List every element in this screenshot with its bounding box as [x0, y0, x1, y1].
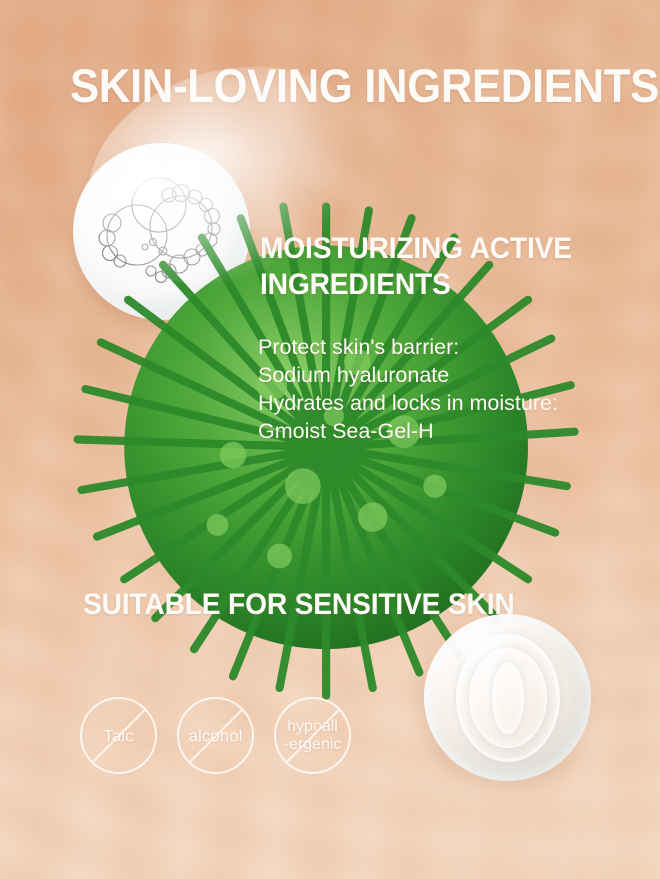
badge-label: Talc: [71, 726, 167, 745]
water-droplet-with-green-algae: [0, 0, 170, 152]
no-talc-icon: Talc: [80, 697, 157, 774]
no-hypoallergenic-icon: hypoall -ergenic: [274, 697, 351, 774]
section-heading-sensitive-skin: SUITABLE FOR SENSITIVE SKIN: [83, 587, 515, 623]
badge-label: alcohol: [168, 726, 264, 745]
no-alcohol-icon: alcohol: [177, 697, 254, 774]
clear-gel-drop: [424, 614, 591, 781]
skincare-ingredients-poster: SKIN-LOVING INGREDIENTS: [0, 0, 660, 879]
badge-label: hypoall -ergenic: [265, 718, 361, 754]
section-heading-moisturizing: MOISTURIZING ACTIVE INGREDIENTS: [260, 231, 636, 303]
section-body-moisturizing: Protect skin's barrier: Sodium hyalurona…: [258, 333, 558, 445]
gel-ring-inner: [492, 662, 524, 734]
